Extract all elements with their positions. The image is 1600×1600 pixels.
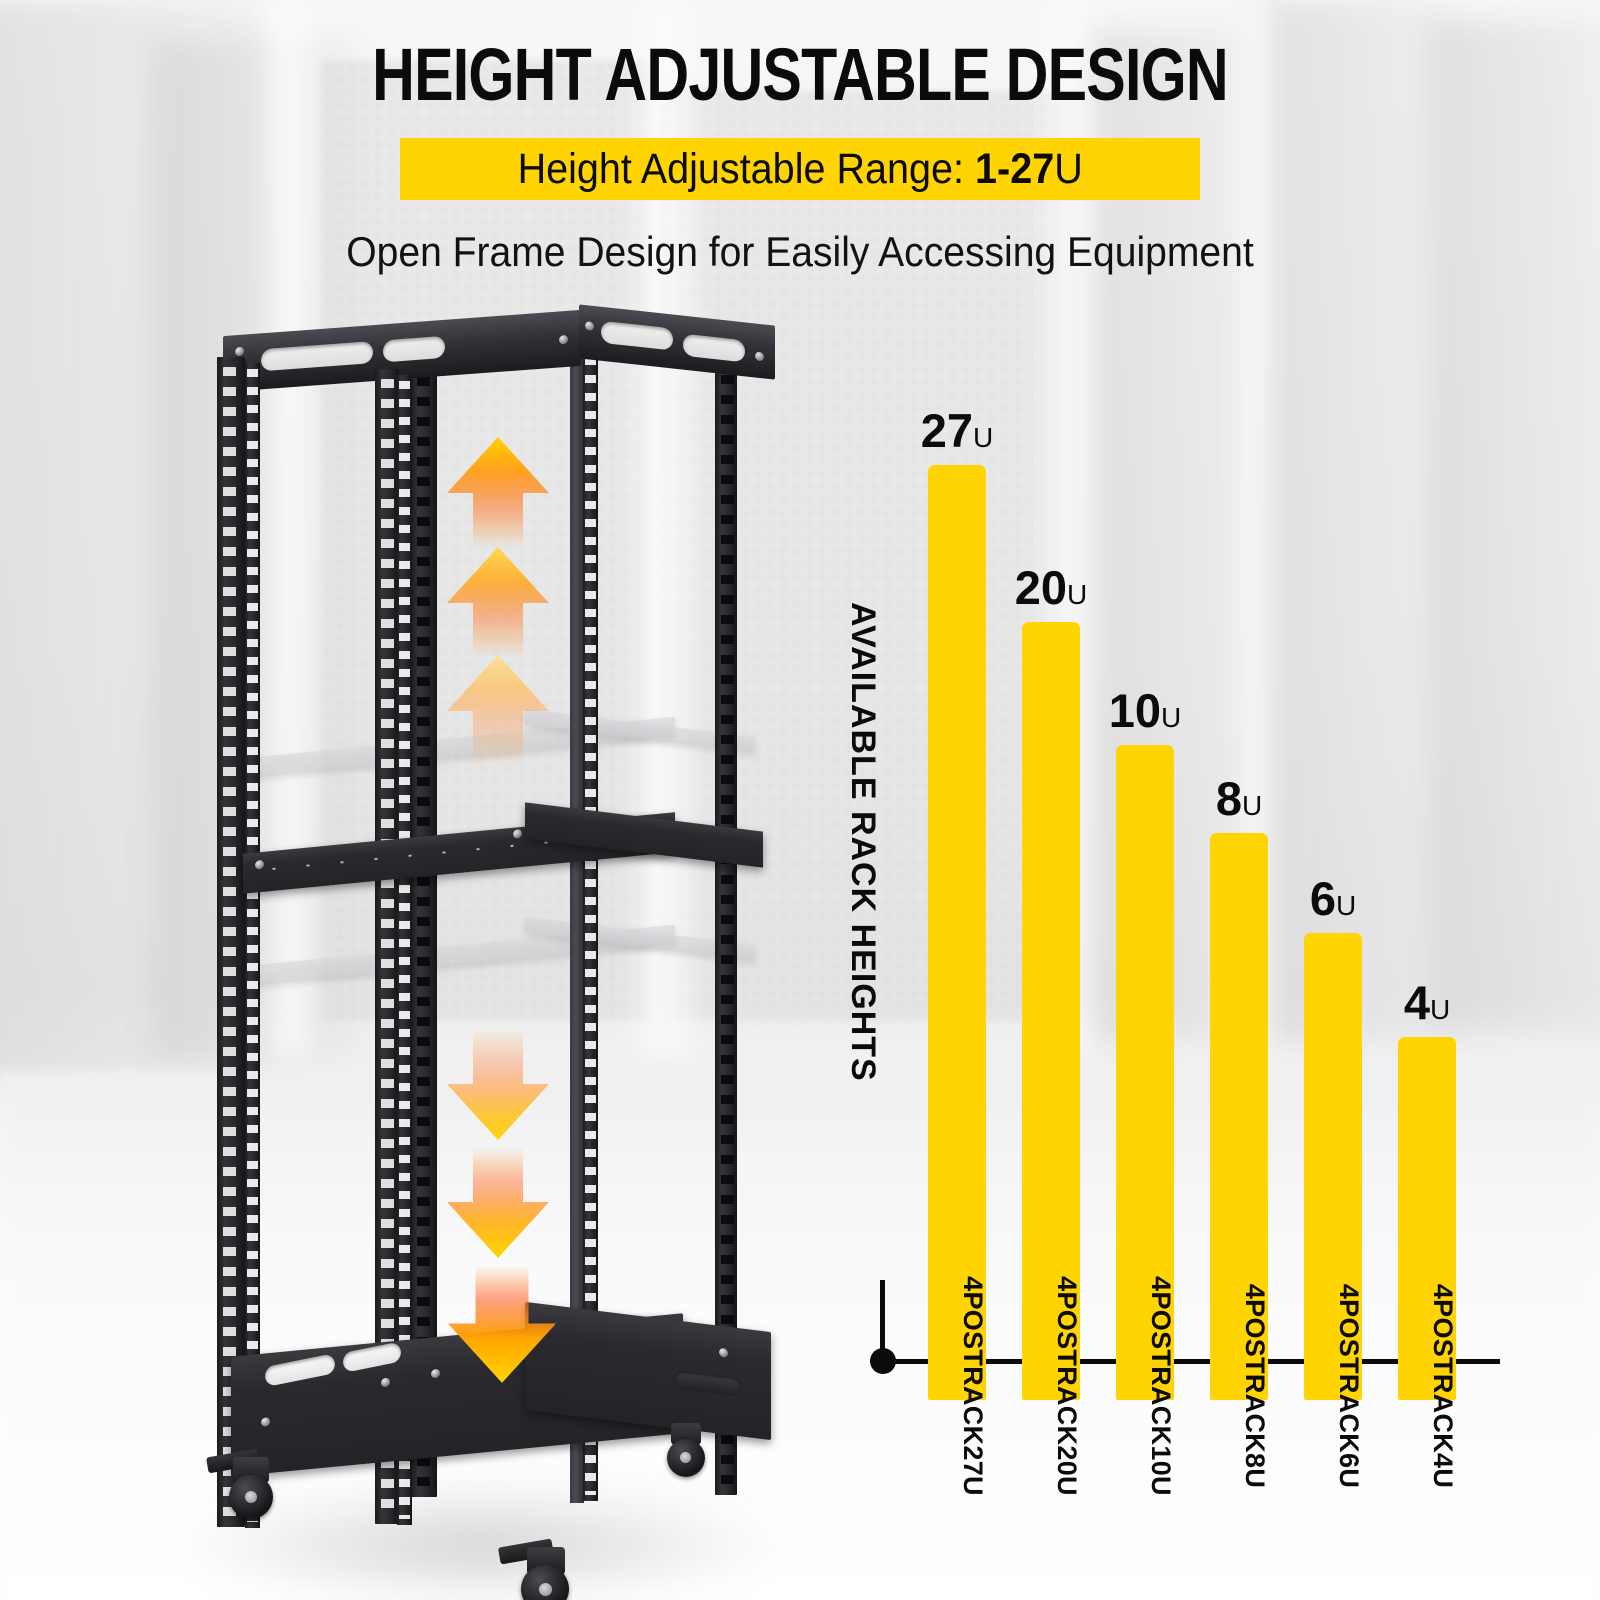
page-subtitle: Open Frame Design for Easily Accessing E… [56, 228, 1544, 276]
chart-bar-4[interactable]: 6U 4POSTRACK6U [1304, 933, 1362, 1400]
chart-bar-caption-4: 4POSTRACK6U [1333, 1284, 1364, 1488]
arrow-up-2 [443, 545, 553, 660]
base-screw [261, 1417, 270, 1427]
chart-bar-caption-3: 4POSTRACK8U [1239, 1284, 1270, 1488]
product-image-rack [195, 305, 785, 1585]
caster-hub [245, 1491, 257, 1503]
base-handle-slot-2 [342, 1342, 402, 1373]
arrow-up-3 [443, 653, 553, 768]
caster-hub [680, 1452, 691, 1463]
chart-bar-value-2: 10U [1109, 687, 1182, 734]
frame-screw [585, 321, 594, 331]
chart-bar-3[interactable]: 8U 4POSTRACK8U [1210, 833, 1268, 1400]
chart-bar-0[interactable]: 27U 4POSTRACK27U [928, 465, 986, 1400]
chart-bar-caption-2: 4POSTRACK10U [1145, 1276, 1176, 1496]
range-text: Height Adjustable Range: 1-27U [517, 145, 1082, 194]
chart-bar-value-0: 27U [921, 407, 994, 454]
arrow-down-3 [443, 1263, 561, 1385]
rack-post-rear-left [411, 367, 437, 1497]
range-value: 1-27 [975, 145, 1054, 193]
header: HEIGHT ADJUSTABLE DESIGN Height Adjustab… [0, 0, 1600, 300]
chart-bar-value-5: 4U [1404, 979, 1450, 1026]
caster-hub [539, 1583, 552, 1596]
rack-top-frame-side [579, 304, 775, 379]
top-frame-handle-slot-4 [683, 334, 745, 363]
top-frame-handle-slot-1 [261, 341, 373, 371]
chart-bar-value-3: 8U [1216, 775, 1262, 822]
range-unit: U [1054, 145, 1083, 193]
base-screw [381, 1377, 390, 1387]
base-screw [431, 1369, 440, 1379]
top-frame-handle-slot-2 [383, 336, 445, 363]
range-highlight-bar: Height Adjustable Range: 1-27U [400, 138, 1200, 200]
rack-post-front-left [217, 357, 245, 1527]
base-handle-slot-3 [675, 1370, 741, 1396]
chart-bar-5[interactable]: 4U 4POSTRACK4U [1398, 1037, 1456, 1400]
frame-screw [755, 351, 764, 361]
range-prefix: Height Adjustable Range: [517, 145, 974, 193]
chart-y-axis-label: AVAILABLE RACK HEIGHTS [843, 602, 882, 1082]
page-title: HEIGHT ADJUSTABLE DESIGN [160, 32, 1440, 117]
frame-screw [235, 347, 244, 357]
top-frame-handle-slot-3 [601, 321, 673, 351]
chart-bar-caption-5: 4POSTRACK4U [1427, 1284, 1458, 1488]
arrow-down-1 [443, 1027, 553, 1142]
chart-bar-2[interactable]: 10U 4POSTRACK10U [1116, 745, 1174, 1400]
base-screw [719, 1348, 728, 1358]
chart-bar-caption-1: 4POSTRACK20U [1051, 1276, 1082, 1496]
frame-screw [559, 335, 568, 345]
arrow-down-2 [443, 1145, 553, 1260]
chart-bar-caption-0: 4POSTRACK27U [957, 1276, 988, 1496]
chart-bar-value-4: 6U [1310, 875, 1356, 922]
base-handle-slot-1 [264, 1353, 336, 1387]
arrow-up-1 [443, 435, 553, 550]
rack-post-rear-right [715, 345, 737, 1495]
available-rack-heights-chart: AVAILABLE RACK HEIGHTS 27U 4POSTRACK27U … [840, 340, 1540, 1400]
chart-bar-value-1: 20U [1015, 564, 1088, 611]
chart-bar-1[interactable]: 20U 4POSTRACK20U [1022, 622, 1080, 1400]
